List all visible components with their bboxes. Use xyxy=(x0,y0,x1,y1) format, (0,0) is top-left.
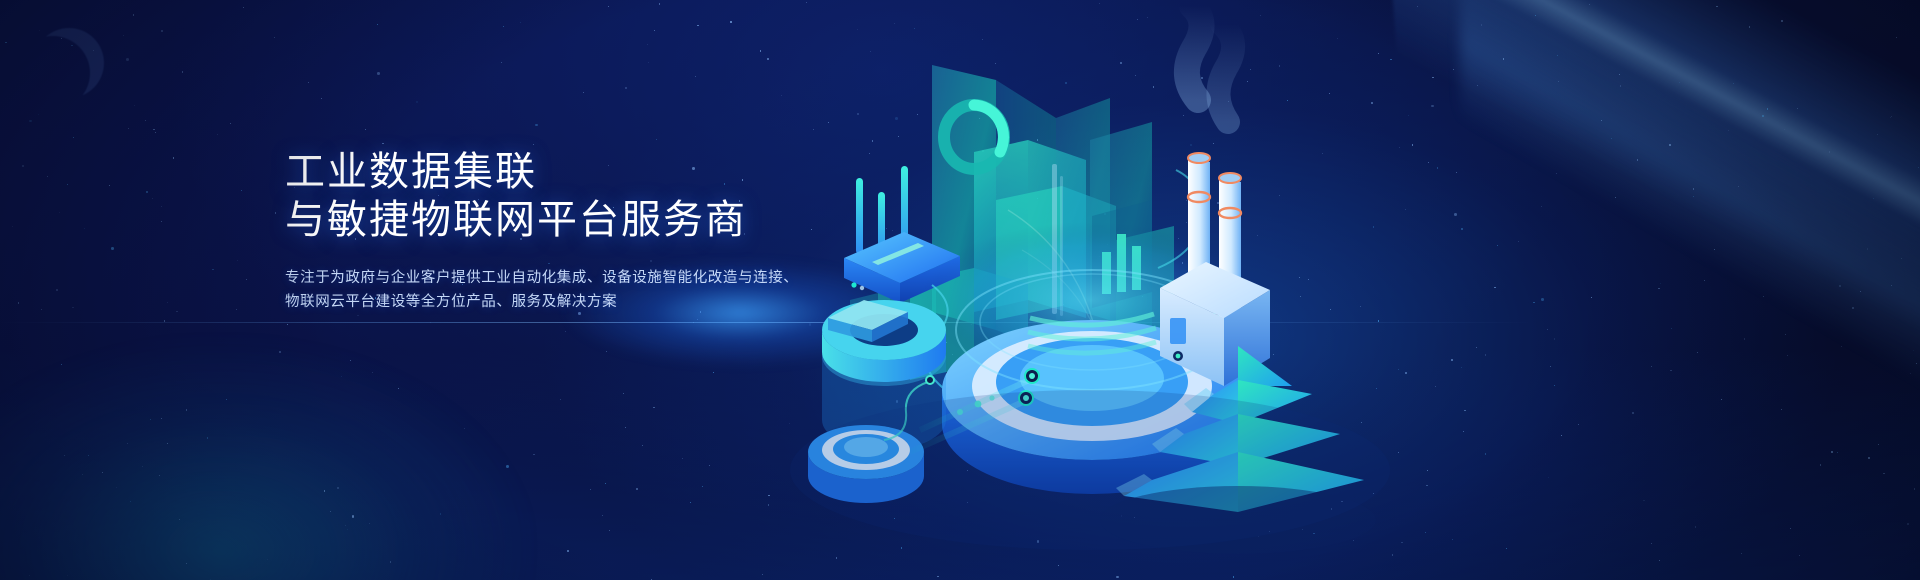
subtitle-line-1: 专注于为政府与企业客户提供工业自动化集成、设备设施智能化改造与连接、 xyxy=(285,266,905,290)
headline-line-2: 与敏捷物联网平台服务商 xyxy=(285,196,905,244)
hero-banner: 工业数据集联 与敏捷物联网平台服务商 专注于为政府与企业客户提供工业自动化集成、… xyxy=(0,0,1920,580)
factory-smokestacks xyxy=(1160,6,1270,386)
subtitle-line-2: 物联网云平台建设等全方位产品、服务及解决方案 xyxy=(285,290,905,314)
hero-text-block: 工业数据集联 与敏捷物联网平台服务商 专注于为政府与企业客户提供工业自动化集成、… xyxy=(285,148,905,314)
hero-illustration xyxy=(760,0,1920,580)
headline-line-1: 工业数据集联 xyxy=(285,148,905,196)
